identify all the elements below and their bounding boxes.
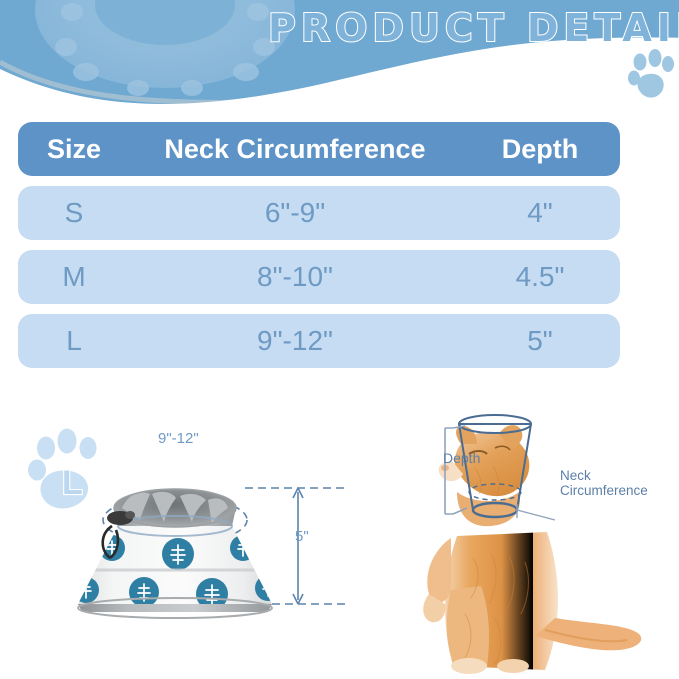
depth-dimension-label: 5" bbox=[295, 528, 309, 545]
cell-neck: 8"-10" bbox=[130, 261, 460, 293]
table-row: M 8"-10" 4.5" bbox=[18, 250, 620, 304]
cone-bottom-rim bbox=[78, 604, 272, 612]
cat-neck-label: Neck Circumference bbox=[560, 468, 648, 498]
table-row: L 9"-12" 5" bbox=[18, 314, 620, 368]
cell-depth: 4.5" bbox=[460, 261, 620, 293]
column-header-neck: Neck Circumference bbox=[130, 134, 460, 165]
cell-depth: 4" bbox=[460, 197, 620, 229]
column-header-size: Size bbox=[18, 134, 130, 165]
size-chart-table: Size Neck Circumference Depth S 6"-9" 4"… bbox=[18, 122, 620, 378]
column-header-depth: Depth bbox=[460, 134, 620, 165]
neck-dimension-label: 9"-12" bbox=[158, 430, 199, 447]
cat-wearing-cone-figure bbox=[395, 408, 679, 679]
cell-depth: 5" bbox=[460, 325, 620, 357]
cat-depth-label: Depth bbox=[443, 450, 480, 466]
table-header-row: Size Neck Circumference Depth bbox=[18, 122, 620, 176]
cat-body bbox=[423, 532, 641, 674]
header-banner: PRODUCT DETAILS bbox=[0, 0, 679, 112]
cell-size: M bbox=[18, 261, 130, 293]
size-badge-paw: L bbox=[28, 429, 97, 509]
cell-neck: 6"-9" bbox=[130, 197, 460, 229]
neck-leader-line bbox=[517, 504, 555, 520]
page-title: PRODUCT DETAILS bbox=[268, 4, 668, 52]
cell-neck: 9"-12" bbox=[130, 325, 460, 357]
cell-size: S bbox=[18, 197, 130, 229]
cell-size: L bbox=[18, 325, 130, 357]
cat-neck-label-line2: Circumference bbox=[560, 483, 648, 498]
table-row: S 6"-9" 4" bbox=[18, 186, 620, 240]
product-details-page: PRODUCT DETAILS Size Neck Circumference … bbox=[0, 0, 679, 679]
cat-neck-label-line1: Neck bbox=[560, 468, 591, 483]
size-badge-letter: L bbox=[62, 464, 83, 502]
